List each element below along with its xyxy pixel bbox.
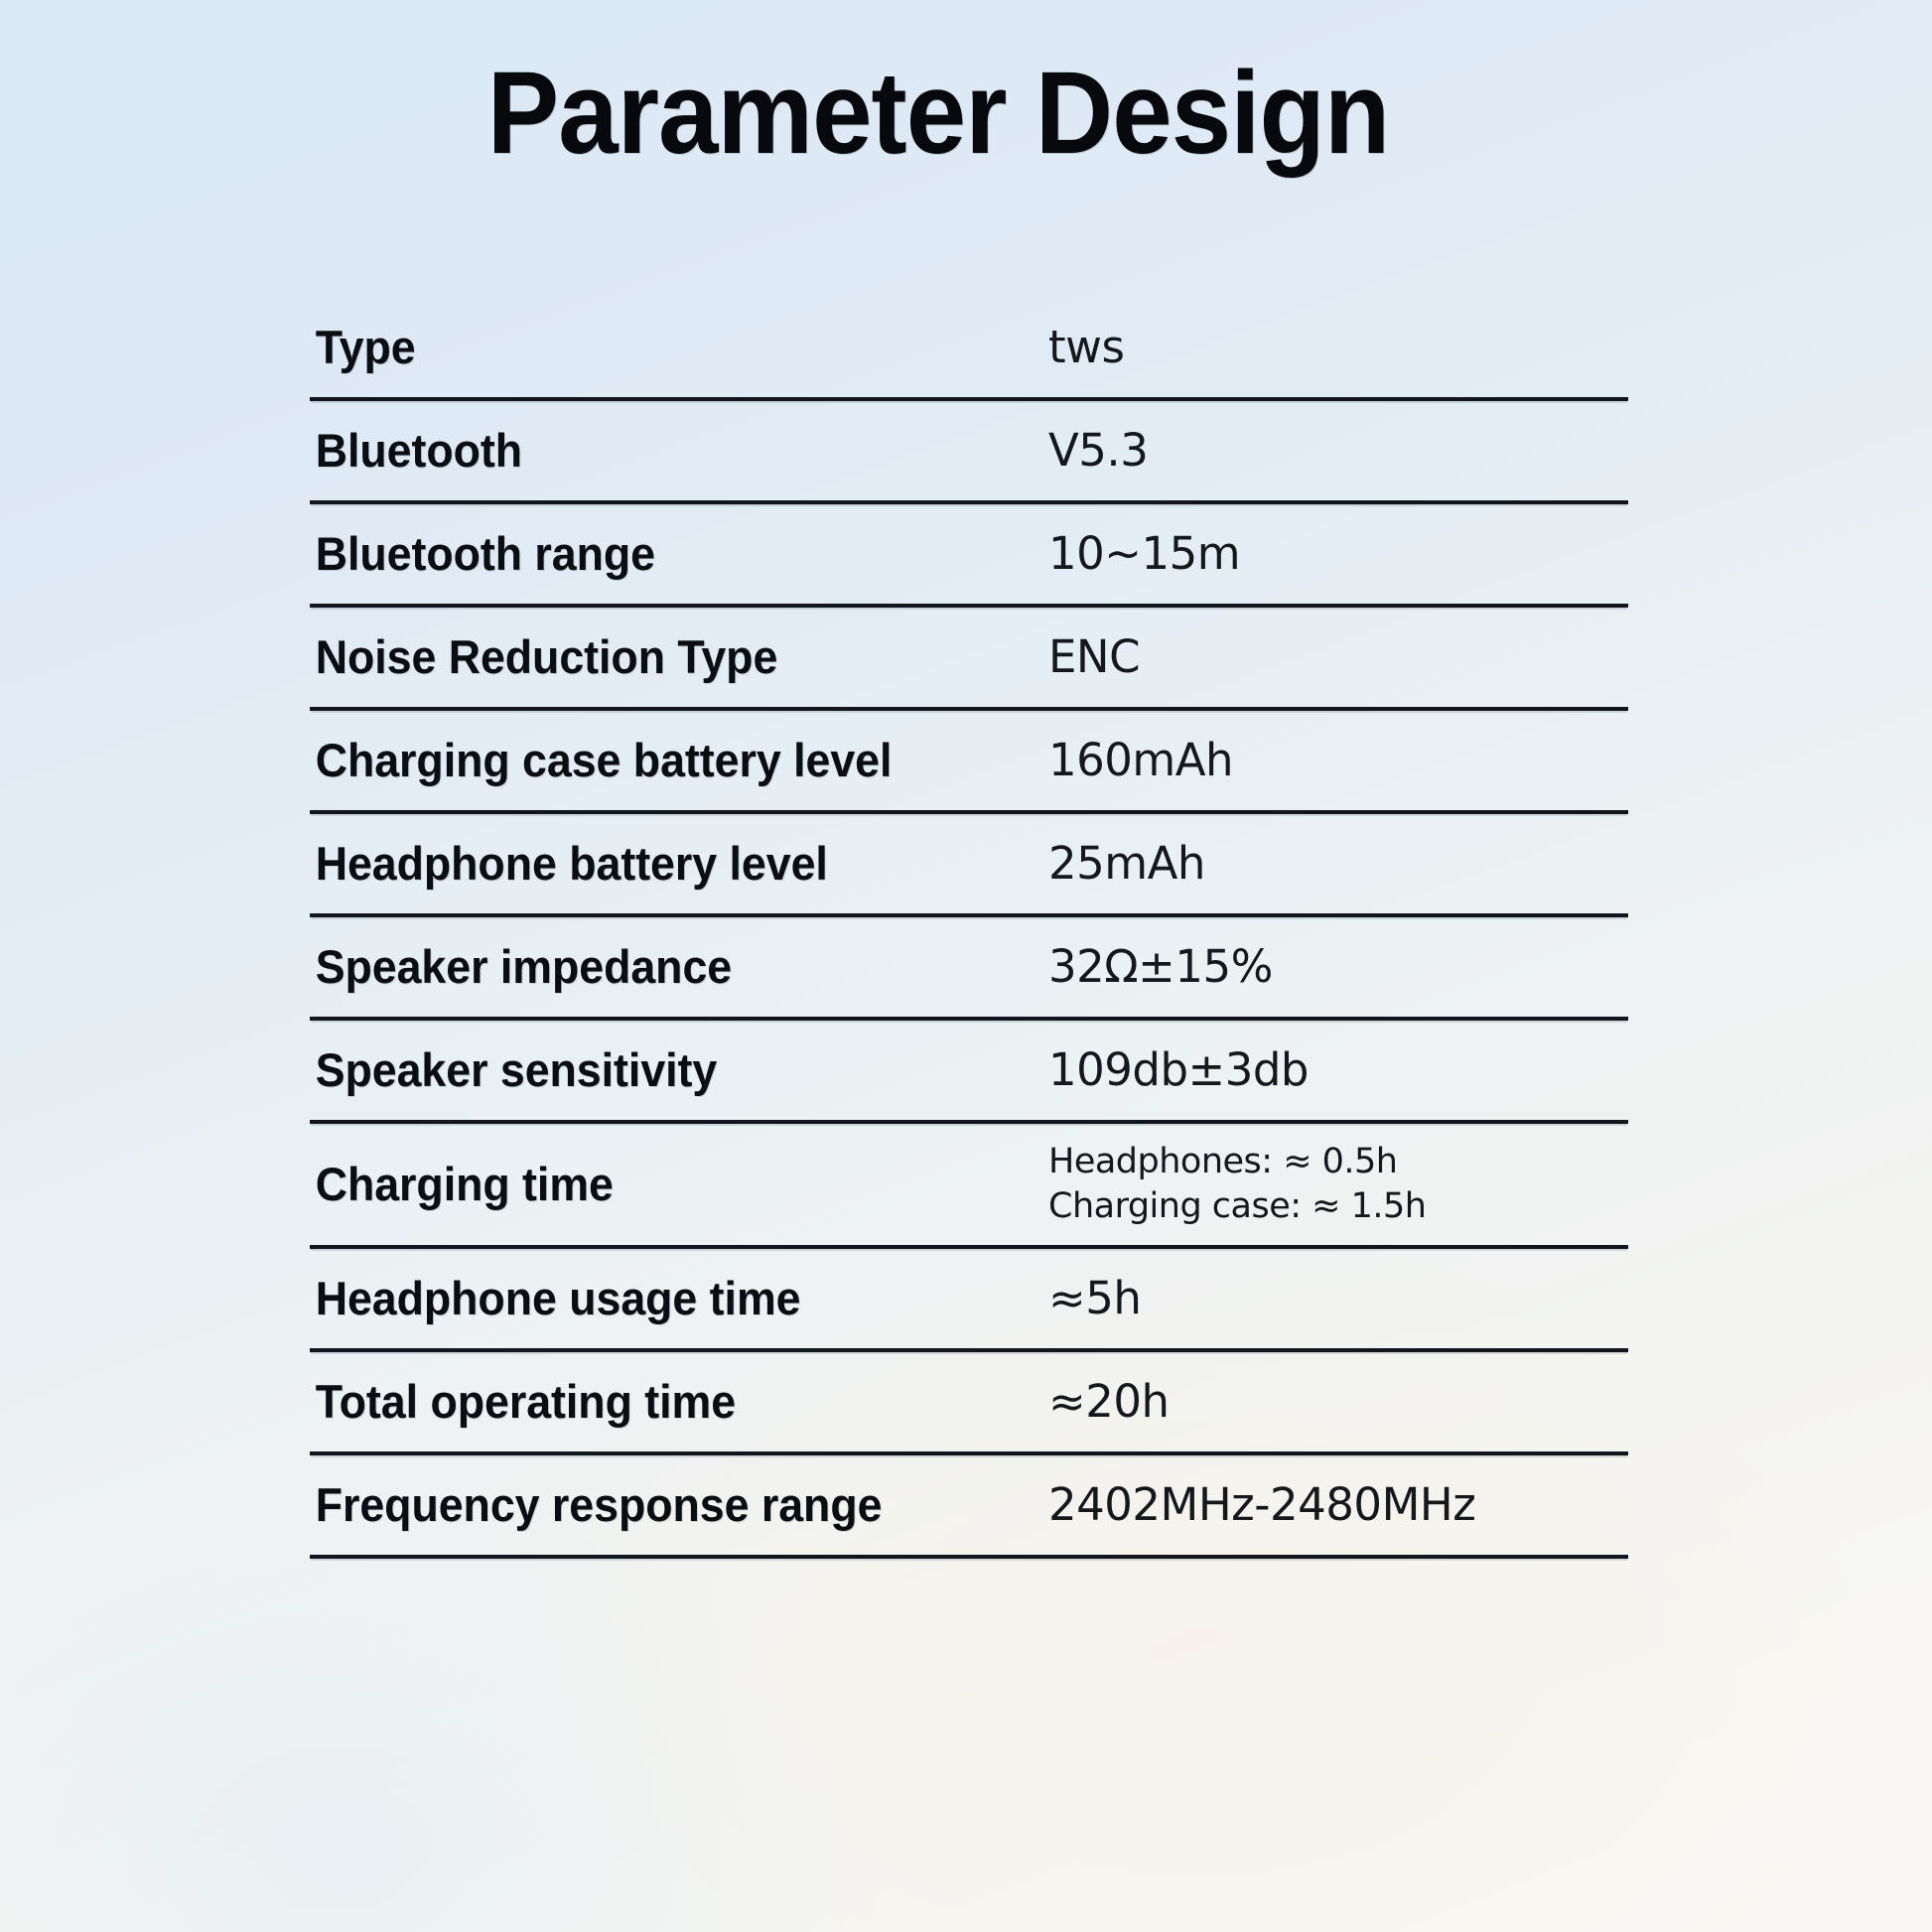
spec-value-bluetooth: V5.3 <box>1048 426 1628 476</box>
spec-label-frequency-response-range: Frequency response range <box>310 1479 1012 1531</box>
spec-value-charging-case-battery-level: 160mAh <box>1048 736 1628 785</box>
table-row: Charging time Headphones: ≈ 0.5h Chargin… <box>310 1124 1628 1249</box>
spec-value-headphone-usage-time: ≈5h <box>1048 1274 1628 1323</box>
spec-label-speaker-impedance: Speaker impedance <box>310 941 1012 993</box>
spec-label-speaker-sensitivity: Speaker sensitivity <box>310 1044 1012 1096</box>
spec-value-total-operating-time: ≈20h <box>1048 1377 1628 1427</box>
spec-label-bluetooth: Bluetooth <box>310 425 1012 477</box>
spec-label-type: Type <box>310 322 1012 373</box>
spec-value-speaker-sensitivity: 109db±3db <box>1048 1045 1628 1095</box>
spec-value-noise-reduction-type: ENC <box>1048 632 1628 682</box>
table-row: Speaker sensitivity 109db±3db <box>310 1021 1628 1124</box>
spec-label-noise-reduction-type: Noise Reduction Type <box>310 631 1012 683</box>
specification-table: Type tws Bluetooth V5.3 Bluetooth range … <box>310 298 1628 1559</box>
spec-value-headphone-battery-level: 25mAh <box>1048 839 1628 889</box>
spec-value-charging-time: Headphones: ≈ 0.5h Charging case: ≈ 1.5h <box>1048 1140 1628 1229</box>
table-row: Frequency response range 2402MHz-2480MHz <box>310 1455 1628 1559</box>
table-row: Noise Reduction Type ENC <box>310 608 1628 711</box>
spec-value-charging-time-headphones: Headphones: ≈ 0.5h <box>1048 1140 1628 1184</box>
table-row: Charging case battery level 160mAh <box>310 711 1628 814</box>
spec-value-speaker-impedance: 32Ω±15% <box>1048 942 1628 992</box>
spec-label-bluetooth-range: Bluetooth range <box>310 528 1012 580</box>
spec-label-headphone-battery-level: Headphone battery level <box>310 838 1012 890</box>
table-row: Speaker impedance 32Ω±15% <box>310 917 1628 1021</box>
parameter-design-page: Parameter Design Type tws Bluetooth V5.3… <box>0 0 1932 1932</box>
table-row: Headphone usage time ≈5h <box>310 1249 1628 1352</box>
spec-value-type: tws <box>1048 323 1628 372</box>
spec-label-charging-case-battery-level: Charging case battery level <box>310 735 1012 786</box>
spec-label-total-operating-time: Total operating time <box>310 1376 1012 1428</box>
page-title: Parameter Design <box>75 46 1802 182</box>
spec-value-frequency-response-range: 2402MHz-2480MHz <box>1048 1480 1628 1530</box>
table-row: Headphone battery level 25mAh <box>310 814 1628 917</box>
table-row: Bluetooth range 10~15m <box>310 504 1628 608</box>
spec-label-headphone-usage-time: Headphone usage time <box>310 1273 1012 1324</box>
spec-label-charging-time: Charging time <box>310 1159 1012 1210</box>
table-row: Total operating time ≈20h <box>310 1352 1628 1455</box>
spec-value-bluetooth-range: 10~15m <box>1048 529 1628 579</box>
table-row: Bluetooth V5.3 <box>310 401 1628 504</box>
table-row: Type tws <box>310 298 1628 401</box>
spec-value-charging-time-case: Charging case: ≈ 1.5h <box>1048 1184 1628 1229</box>
